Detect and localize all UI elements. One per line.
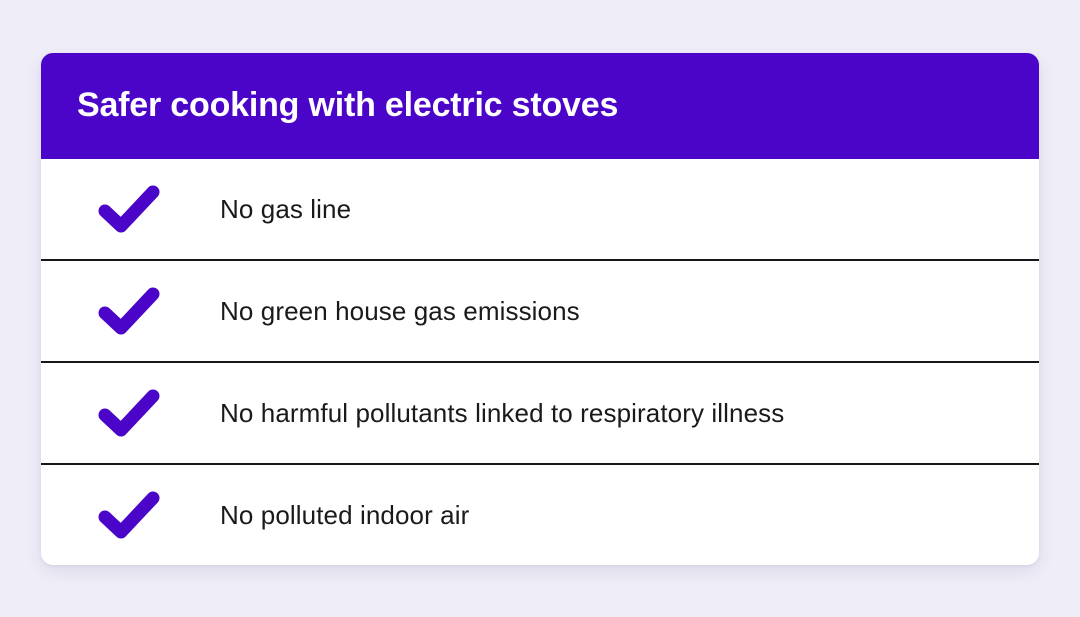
list-item-label: No harmful pollutants linked to respirat… bbox=[220, 397, 784, 430]
card-header: Safer cooking with electric stoves bbox=[41, 53, 1039, 159]
check-icon bbox=[98, 184, 160, 234]
list-item: No green house gas emissions bbox=[41, 259, 1039, 361]
check-icon bbox=[98, 490, 160, 540]
card-body: No gas line No green house gas emissions bbox=[41, 159, 1039, 565]
check-cell bbox=[41, 490, 220, 540]
list-item: No harmful pollutants linked to respirat… bbox=[41, 361, 1039, 463]
list-item-label: No gas line bbox=[220, 193, 351, 226]
check-cell bbox=[41, 388, 220, 438]
list-item: No gas line bbox=[41, 159, 1039, 259]
list-item-label: No green house gas emissions bbox=[220, 295, 580, 328]
check-icon bbox=[98, 388, 160, 438]
page-title: Safer cooking with electric stoves bbox=[77, 87, 618, 124]
check-icon bbox=[98, 286, 160, 336]
list-item: No polluted indoor air bbox=[41, 463, 1039, 565]
check-cell bbox=[41, 286, 220, 336]
check-cell bbox=[41, 184, 220, 234]
benefits-card: Safer cooking with electric stoves No ga… bbox=[41, 53, 1039, 565]
list-item-label: No polluted indoor air bbox=[220, 499, 469, 532]
page-root: Safer cooking with electric stoves No ga… bbox=[0, 0, 1080, 617]
